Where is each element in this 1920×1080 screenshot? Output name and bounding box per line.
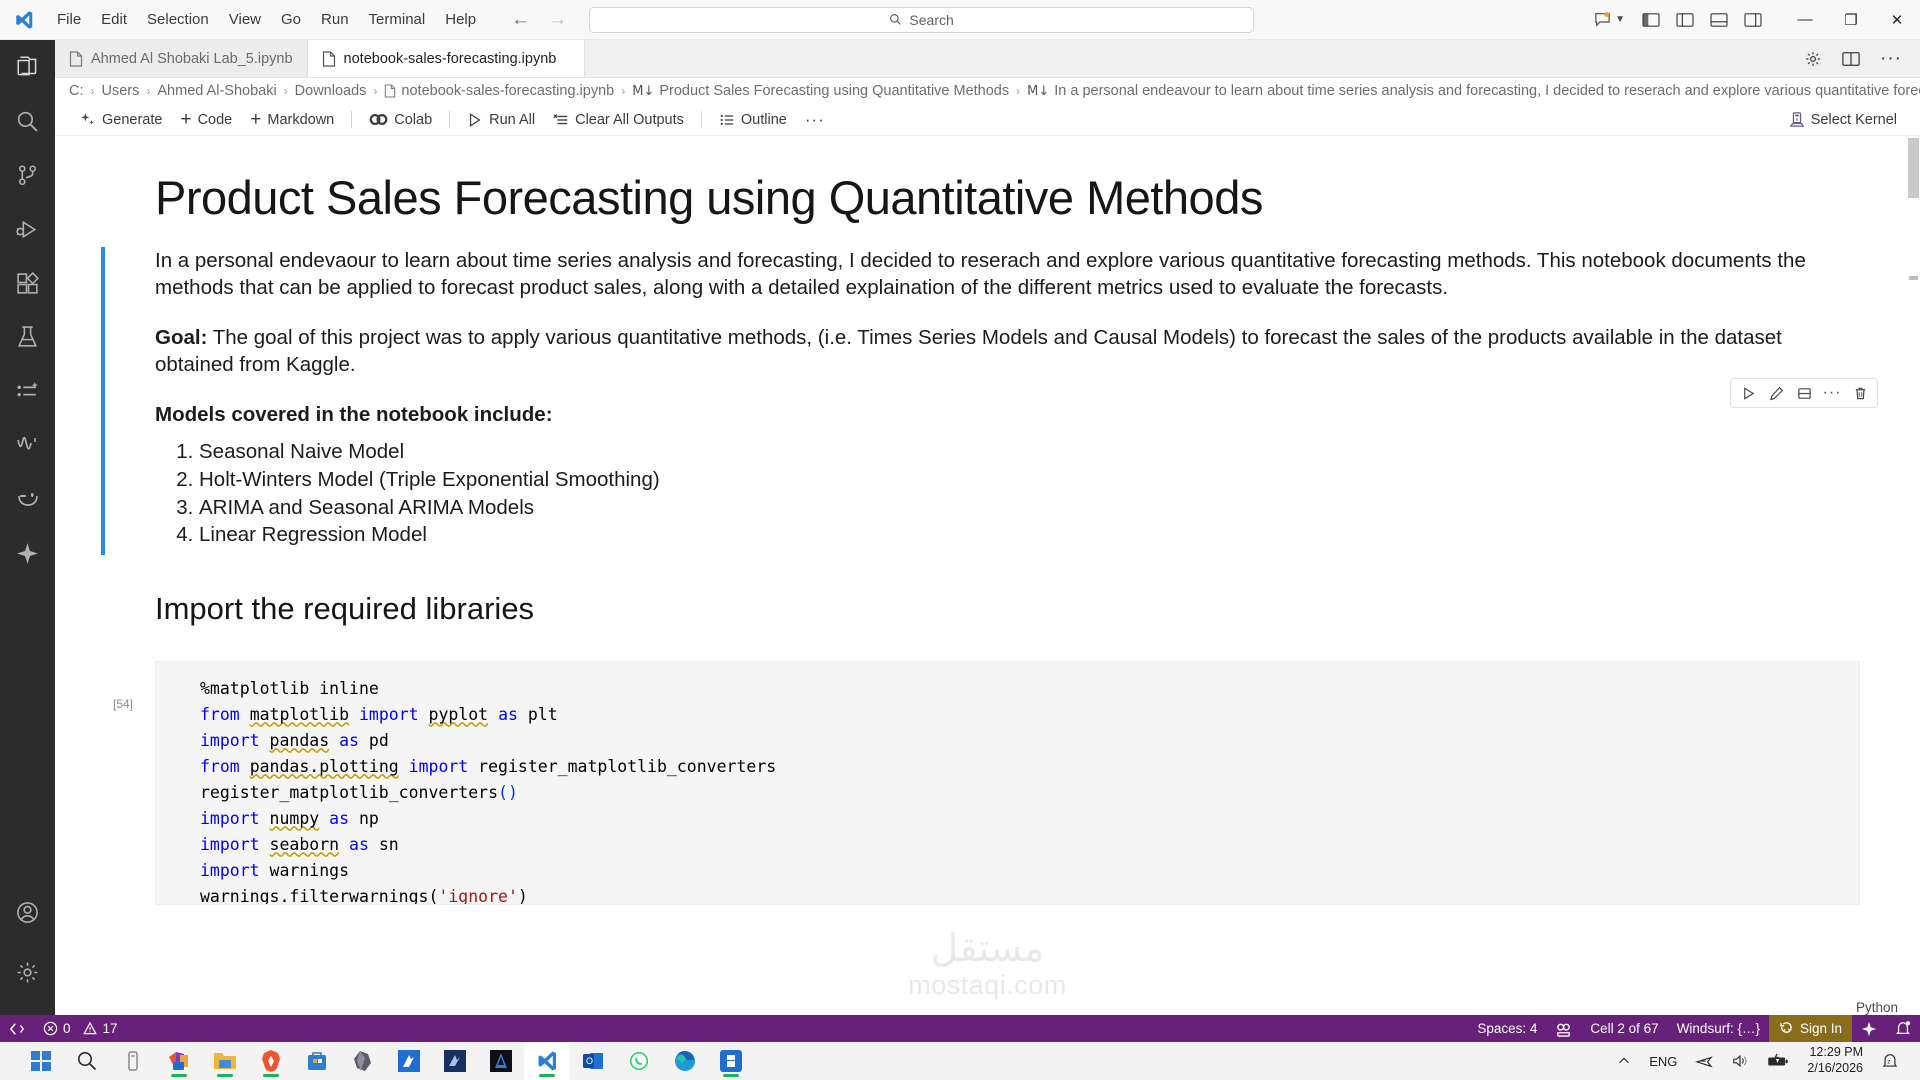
- taskbar-apps: O: [0, 1042, 754, 1080]
- notebook-cell-import-heading[interactable]: Import the required libraries: [55, 591, 1920, 627]
- taskbar-edge[interactable]: [662, 1042, 708, 1080]
- outline-list-icon: [719, 112, 735, 128]
- menu-item-file[interactable]: File: [48, 7, 90, 32]
- figma-icon: [720, 1050, 742, 1072]
- layout-controls: [1642, 12, 1762, 28]
- sidebar-item-settings-list[interactable]: [0, 364, 55, 418]
- status-bar: 0 17 Spaces: 4 Cell 2 of 67 Windsurf: {……: [0, 1015, 1920, 1042]
- edit-cell-icon[interactable]: [1763, 382, 1789, 404]
- list-item: Holt-Winters Model (Triple Exponential S…: [199, 467, 1860, 494]
- whatsapp-icon: [628, 1050, 650, 1072]
- more-cell-actions-icon[interactable]: ···: [1819, 382, 1845, 404]
- vscode-icon: [535, 1049, 559, 1073]
- smiley-icon: [15, 488, 41, 510]
- search-placeholder: Search: [909, 12, 953, 28]
- status-copilot[interactable]: [1852, 1015, 1886, 1042]
- breadcrumb-separator: ›: [144, 84, 152, 98]
- breadcrumb-separator: ›: [1014, 84, 1022, 98]
- airplane-network-icon: [1695, 1053, 1713, 1069]
- taskbar: O ENG 12:29 PM 2/16/2026: [0, 1042, 1920, 1080]
- title-bar: File Edit Selection View Go Run Terminal…: [0, 0, 1920, 40]
- taskbar-tray: ENG 12:29 PM 2/16/2026 z: [1608, 1042, 1920, 1080]
- breadcrumb-item-cell[interactable]: M↓ In a personal endeavour to learn abou…: [1027, 83, 1920, 99]
- layout-sidebar-right-icon[interactable]: [1744, 12, 1762, 28]
- speaker-icon: [1731, 1053, 1749, 1069]
- notebook-body[interactable]: Product Sales Forecasting using Quantita…: [55, 136, 1920, 1019]
- running-indicator: [723, 1074, 739, 1077]
- breadcrumb-separator: ›: [89, 84, 97, 98]
- breadcrumb-label: C:: [69, 83, 84, 99]
- sidebar-item-accounts[interactable]: [0, 885, 55, 939]
- status-bar-right: Spaces: 4 Cell 2 of 67 Windsurf: {…} Sig…: [1468, 1015, 1920, 1042]
- copilot-sparkle-icon: [1861, 1021, 1877, 1037]
- navigation-arrows: ← →: [511, 10, 567, 29]
- layout-sidebar-left-icon[interactable]: [1676, 12, 1694, 28]
- notebook-cell-code[interactable]: [54] %matplotlib inline from matplotlib …: [55, 661, 1920, 905]
- button-label: Markdown: [267, 112, 334, 128]
- titlebar-right-group: ▼ — ❐ ✕: [1587, 0, 1920, 40]
- cell-hover-toolbar: ···: [1730, 378, 1878, 408]
- error-circle-icon: [43, 1021, 58, 1036]
- vscode-logo: [0, 9, 48, 31]
- page-title: Product Sales Forecasting using Quantita…: [155, 170, 1860, 225]
- sidebar-item-search[interactable]: [0, 94, 55, 148]
- notifications-bell-icon: [1895, 1020, 1911, 1037]
- scrollbar-thumb[interactable]: [1908, 138, 1919, 198]
- notebook-file-icon: [322, 51, 336, 67]
- sparkle-generate-icon: [80, 112, 96, 128]
- chat-bubble-icon: [1594, 12, 1611, 27]
- breadcrumb-label: Users: [102, 83, 140, 99]
- outline-button[interactable]: Outline: [710, 109, 796, 131]
- goal-label: Goal:: [155, 326, 207, 349]
- toolbar-divider: [351, 111, 352, 128]
- breadcrumb-separator: ›: [371, 84, 379, 98]
- taskbar-microsoft-365[interactable]: [156, 1042, 202, 1080]
- button-label: Outline: [741, 112, 787, 128]
- tray-battery[interactable]: [1758, 1042, 1798, 1080]
- goal-text: The goal of this project was to apply va…: [155, 326, 1782, 376]
- status-sign-in-button[interactable]: Sign In: [1769, 1015, 1852, 1042]
- running-indicator: [217, 1074, 233, 1077]
- more-toolbar-actions-button[interactable]: ···: [796, 111, 834, 129]
- notebook-file-icon: [69, 51, 83, 67]
- obsidian-icon: [353, 1050, 373, 1072]
- matlab-icon: [398, 1050, 420, 1072]
- breadcrumb-item-drive[interactable]: C:: [69, 83, 84, 99]
- execution-count: [54]: [113, 697, 133, 711]
- menu-item-view[interactable]: View: [220, 7, 270, 32]
- generate-button[interactable]: Generate: [71, 109, 171, 131]
- select-kernel-button[interactable]: Select Kernel: [1780, 108, 1906, 131]
- watermark-latin: mostaqi.com: [908, 970, 1067, 1001]
- svg-text:O: O: [586, 1056, 593, 1066]
- chat-toggle-button[interactable]: ▼: [1587, 8, 1632, 31]
- models-heading: Models covered in the notebook include:: [155, 403, 1860, 427]
- breadcrumb-separator: ›: [619, 84, 627, 98]
- layout-panel-left-icon[interactable]: [1642, 12, 1660, 28]
- taskbar-outlook[interactable]: O: [570, 1042, 616, 1080]
- running-indicator: [263, 1074, 279, 1077]
- cell-selection-bar: [101, 247, 105, 555]
- menu-item-help[interactable]: Help: [436, 7, 485, 32]
- notebook-cell-intro[interactable]: In a personal endevaour to learn about t…: [55, 247, 1920, 549]
- clear-all-outputs-button[interactable]: Clear All Outputs: [544, 109, 693, 131]
- tray-network[interactable]: [1686, 1042, 1722, 1080]
- button-label: Colab: [394, 112, 432, 128]
- activity-bar: [0, 40, 55, 1015]
- outlook-icon: O: [582, 1050, 604, 1072]
- microsoft-edge-icon: [674, 1050, 696, 1072]
- arrow-left-icon[interactable]: ←: [511, 10, 530, 29]
- taskbar-figma[interactable]: [708, 1042, 754, 1080]
- section-heading-import: Import the required libraries: [155, 591, 1860, 627]
- close-button[interactable]: ✕: [1874, 0, 1920, 40]
- delete-cell-icon[interactable]: [1847, 382, 1873, 404]
- notebook-file-icon: [384, 84, 396, 98]
- jupyter-variables-icon: [1555, 1021, 1572, 1037]
- window-controls: — ❐ ✕: [1782, 0, 1920, 40]
- windsurf-wave-icon: [15, 434, 41, 456]
- manage-gear-icon: [15, 960, 40, 985]
- code-line: register_matplotlib_converters(): [156, 780, 1859, 806]
- ni-labview-icon: [444, 1050, 466, 1072]
- code-editor[interactable]: %matplotlib inline from matplotlib impor…: [155, 661, 1860, 905]
- split-cell-icon[interactable]: [1791, 382, 1817, 404]
- extensions-icon: [15, 271, 40, 296]
- taskbar-windows-start[interactable]: [18, 1042, 64, 1080]
- watermark-arabic: مستقل: [908, 926, 1067, 970]
- tray-notifications[interactable]: z: [1872, 1042, 1908, 1080]
- tray-language[interactable]: ENG: [1640, 1042, 1686, 1080]
- accounts-icon: [15, 900, 40, 925]
- anaconda-navigator-icon: [490, 1050, 512, 1072]
- status-cell-position[interactable]: Cell 2 of 67: [1581, 1015, 1667, 1042]
- editor-tab-lab5[interactable]: Ahmed Al Shobaki Lab_5.ipynb: [55, 40, 308, 77]
- tray-volume[interactable]: [1722, 1042, 1758, 1080]
- breadcrumb-label: Downloads: [295, 83, 367, 99]
- sidebar-item-manage[interactable]: [0, 945, 55, 999]
- status-bar-left: 0 17: [0, 1015, 127, 1042]
- sidebar-item-testing[interactable]: [0, 310, 55, 364]
- more-actions-icon: ···: [805, 114, 825, 126]
- breadcrumb-item-downloads[interactable]: Downloads: [295, 83, 367, 99]
- status-notifications[interactable]: [1886, 1015, 1920, 1042]
- menu-item-terminal[interactable]: Terminal: [360, 7, 435, 32]
- toolbar-divider: [701, 111, 702, 128]
- button-label: Run All: [489, 112, 535, 128]
- add-code-cell-button[interactable]: + Code: [171, 109, 241, 131]
- editor-tab-sales-forecasting[interactable]: notebook-sales-forecasting.ipynb close-i…: [308, 40, 586, 77]
- battery-charging-icon: [1767, 1053, 1789, 1069]
- code-line: import seaborn as sn: [156, 832, 1859, 858]
- taskbar-search[interactable]: [64, 1042, 110, 1080]
- sidebar-item-run-and-debug[interactable]: [0, 202, 55, 256]
- running-indicator: [539, 1074, 555, 1077]
- tray-clock[interactable]: 12:29 PM 2/16/2026: [1798, 1042, 1872, 1080]
- plus-icon: +: [180, 112, 191, 127]
- taskbar-file-explorer[interactable]: [202, 1042, 248, 1080]
- menu-bar: File Edit Selection View Go Run Terminal…: [48, 7, 485, 32]
- file-explorer-icon: [213, 1050, 237, 1072]
- settings-list-icon: [15, 379, 40, 404]
- menu-item-selection[interactable]: Selection: [138, 7, 218, 32]
- problems-status[interactable]: 0 17: [34, 1015, 127, 1042]
- button-label: Clear All Outputs: [575, 112, 684, 128]
- editor-scrollbar[interactable]: [1906, 136, 1920, 1019]
- warning-count: 17: [103, 1021, 118, 1036]
- status-windsurf[interactable]: Windsurf: {…}: [1668, 1015, 1769, 1042]
- sidebar-item-extensions[interactable]: [0, 256, 55, 310]
- markdown-icon: M↓: [632, 84, 654, 99]
- list-item: ARIMA and Seasonal ARIMA Models: [199, 495, 1860, 522]
- notification-bell-dnd-icon: z: [1881, 1052, 1899, 1070]
- kernel-server-icon: [1789, 111, 1805, 128]
- list-item: Seasonal Naive Model: [199, 439, 1860, 466]
- plus-icon: +: [250, 112, 261, 127]
- clock-time: 12:29 PM: [1809, 1045, 1863, 1061]
- status-jupyter-variables[interactable]: [1546, 1015, 1581, 1042]
- layout-panel-bottom-icon[interactable]: [1710, 12, 1728, 28]
- sign-in-label: Sign In: [1800, 1021, 1842, 1036]
- breadcrumb-separator: ›: [282, 84, 290, 98]
- search-icon: [889, 13, 902, 26]
- code-line: from pandas.plotting import register_mat…: [156, 754, 1859, 780]
- minimize-button[interactable]: —: [1782, 0, 1828, 40]
- editor-area: Ahmed Al Shobaki Lab_5.ipynb notebook-sa…: [55, 40, 1920, 1015]
- sidebar-item-source-control[interactable]: [0, 148, 55, 202]
- run-and-debug-icon: [15, 217, 40, 242]
- explorer-icon: [15, 54, 41, 80]
- clock-date: 2/16/2026: [1807, 1061, 1863, 1077]
- button-label: Generate: [102, 112, 162, 128]
- maximize-button[interactable]: ❐: [1828, 0, 1874, 40]
- running-indicator: [171, 1074, 187, 1077]
- tray-overflow-button[interactable]: [1608, 1042, 1640, 1080]
- notebook-toolbar: Generate + Code + Markdown Colab Run All…: [55, 104, 1920, 136]
- more-actions-icon[interactable]: ···: [1880, 53, 1902, 64]
- taskbar-vscode[interactable]: [524, 1042, 570, 1080]
- code-line: from matplotlib import pyplot as plt: [156, 702, 1859, 728]
- status-indentation[interactable]: Spaces: 4: [1468, 1015, 1546, 1042]
- colab-icon: [369, 113, 388, 126]
- sparkle-icon: [15, 541, 40, 566]
- taskbar-obsidian[interactable]: [340, 1042, 386, 1080]
- code-line: %matplotlib inline: [156, 676, 1859, 702]
- breadcrumb-item-heading[interactable]: M↓ Product Sales Forecasting using Quant…: [632, 83, 1009, 99]
- svg-text:z: z: [1887, 1058, 1890, 1065]
- watermark: مستقل mostaqi.com: [908, 926, 1067, 1001]
- button-label: Code: [198, 112, 233, 128]
- breadcrumb: C: › Users › Ahmed Al-Shobaki › Download…: [55, 78, 1920, 104]
- taskbar-microsoft-store[interactable]: [294, 1042, 340, 1080]
- error-count: 0: [63, 1021, 71, 1036]
- sidebar-item-windsurf[interactable]: [0, 418, 55, 472]
- models-list: Seasonal Naive Model Holt-Winters Model …: [155, 439, 1860, 549]
- breadcrumb-label: notebook-sales-forecasting.ipynb: [401, 83, 614, 99]
- chevron-up-icon: [1617, 1054, 1631, 1068]
- search-icon: [15, 109, 40, 134]
- menu-item-edit[interactable]: Edit: [92, 7, 136, 32]
- goal-paragraph: Goal: The goal of this project was to ap…: [155, 324, 1860, 379]
- menu-item-go[interactable]: Go: [272, 7, 310, 32]
- code-line: import pandas as pd: [156, 728, 1859, 754]
- taskbar-brave[interactable]: [248, 1042, 294, 1080]
- brave-browser-icon: [260, 1049, 282, 1073]
- taskbar-anaconda[interactable]: [478, 1042, 524, 1080]
- breadcrumb-label: Ahmed Al-Shobaki: [157, 83, 276, 99]
- editor-tab-bar: Ahmed Al Shobaki Lab_5.ipynb notebook-sa…: [55, 40, 1920, 78]
- breadcrumb-item-file[interactable]: notebook-sales-forecasting.ipynb: [384, 83, 614, 99]
- add-markdown-cell-button[interactable]: + Markdown: [241, 109, 343, 131]
- sign-in-icon: [1779, 1021, 1794, 1036]
- code-line: warnings.filterwarnings('ignore'): [156, 884, 1859, 905]
- warning-triangle-icon: [82, 1021, 98, 1036]
- split-editor-right-icon[interactable]: [1842, 50, 1860, 68]
- run-all-button[interactable]: Run All: [458, 109, 544, 131]
- remote-window-icon: [9, 1022, 25, 1036]
- notebook-language-label[interactable]: Python: [1856, 1000, 1898, 1015]
- breadcrumb-label: In a personal endeavour to learn about t…: [1054, 83, 1920, 99]
- arrow-right-icon[interactable]: →: [548, 10, 567, 29]
- taskbar-labview[interactable]: [432, 1042, 478, 1080]
- notebook-cell-title[interactable]: Product Sales Forecasting using Quantita…: [55, 170, 1920, 225]
- list-item: Linear Regression Model: [199, 522, 1860, 549]
- breadcrumb-item-user[interactable]: Ahmed Al-Shobaki: [157, 83, 276, 99]
- chevron-down-icon: ▼: [1615, 14, 1625, 25]
- breadcrumb-item-users[interactable]: Users: [102, 83, 140, 99]
- intro-paragraph: In a personal endevaour to learn about t…: [155, 247, 1860, 302]
- button-label: Select Kernel: [1811, 112, 1897, 128]
- breadcrumb-label: Product Sales Forecasting using Quantita…: [659, 83, 1009, 99]
- menu-item-run[interactable]: Run: [312, 7, 358, 32]
- microsoft-365-icon: [167, 1049, 191, 1073]
- microsoft-store-icon: [306, 1050, 328, 1072]
- run-cell-icon[interactable]: [1735, 382, 1761, 404]
- source-control-icon: [15, 163, 40, 188]
- remote-window-button[interactable]: [0, 1015, 34, 1042]
- taskbar-matlab[interactable]: [386, 1042, 432, 1080]
- editor-tab-label: notebook-sales-forecasting.ipynb: [344, 51, 557, 67]
- sidebar-item-sparkle[interactable]: [0, 526, 55, 580]
- editor-tab-label: Ahmed Al Shobaki Lab_5.ipynb: [91, 51, 293, 67]
- run-all-icon: [467, 112, 483, 128]
- clear-outputs-icon: [553, 112, 569, 128]
- testing-flask-icon: [15, 325, 40, 350]
- colab-button[interactable]: Colab: [360, 109, 441, 131]
- task-view-icon: [123, 1050, 143, 1072]
- taskbar-task-view[interactable]: [110, 1042, 156, 1080]
- taskbar-whatsapp[interactable]: [616, 1042, 662, 1080]
- taskbar-search-icon: [76, 1050, 98, 1072]
- editor-tab-actions: ···: [1804, 40, 1920, 77]
- scrollbar-marker: [1909, 276, 1918, 280]
- code-line: import warnings: [156, 858, 1859, 884]
- sidebar-item-smiley[interactable]: [0, 472, 55, 526]
- markdown-icon: M↓: [1027, 84, 1049, 99]
- code-line: import numpy as np: [156, 806, 1859, 832]
- kernel-picker-area: Select Kernel: [1780, 108, 1920, 131]
- sidebar-item-explorer[interactable]: [0, 40, 55, 94]
- toolbar-divider: [449, 111, 450, 128]
- notebook-settings-gear-icon[interactable]: [1804, 50, 1822, 68]
- search-input[interactable]: Search: [589, 7, 1254, 33]
